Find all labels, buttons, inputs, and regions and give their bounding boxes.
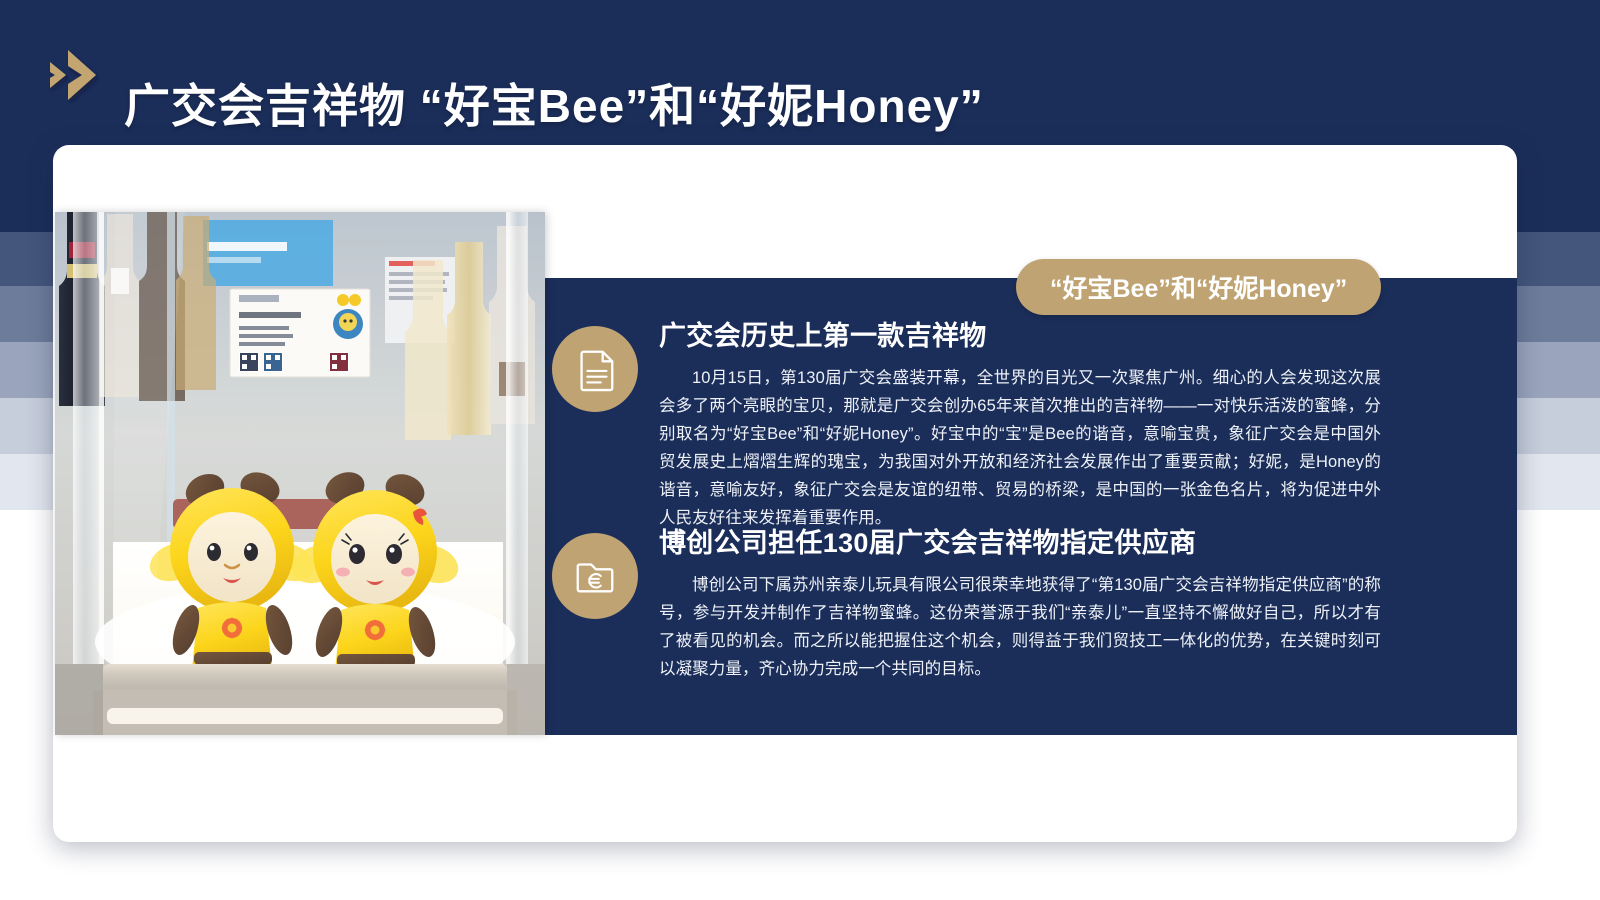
section-heading: 博创公司担任130届广交会吉祥物指定供应商 [659,525,1382,561]
status-badge: “好宝Bee”和“好妮Honey” [1016,259,1381,315]
section-first-mascot: 广交会历史上第一款吉祥物 10月15日，第130届广交会盛装开幕，全世界的目光又… [552,318,1382,532]
slide-header: 广交会吉祥物 “好宝Bee”和“好妮Honey” [0,0,1600,145]
folder-euro-icon [552,533,638,619]
slide-root: 广交会吉祥物 “好宝Bee”和“好妮Honey” [0,0,1600,900]
section-paragraph: 10月15日，第130届广交会盛装开幕，全世界的目光又一次聚焦广州。细心的人会发… [659,364,1381,532]
page-title: 广交会吉祥物 “好宝Bee”和“好妮Honey” [124,77,984,135]
mascot-photo [55,212,545,735]
document-icon [552,326,638,412]
section-supplier: 博创公司担任130届广交会吉祥物指定供应商 博创公司下属苏州亲泰儿玩具有限公司很… [552,525,1382,683]
section-body: 博创公司担任130届广交会吉祥物指定供应商 博创公司下属苏州亲泰儿玩具有限公司很… [659,525,1382,683]
double-chevron-icon [46,44,116,106]
section-heading: 广交会历史上第一款吉祥物 [659,318,1382,354]
section-body: 广交会历史上第一款吉祥物 10月15日，第130届广交会盛装开幕，全世界的目光又… [659,318,1382,532]
section-paragraph: 博创公司下属苏州亲泰儿玩具有限公司很荣幸地获得了“第130届广交会吉祥物指定供应… [659,571,1381,683]
